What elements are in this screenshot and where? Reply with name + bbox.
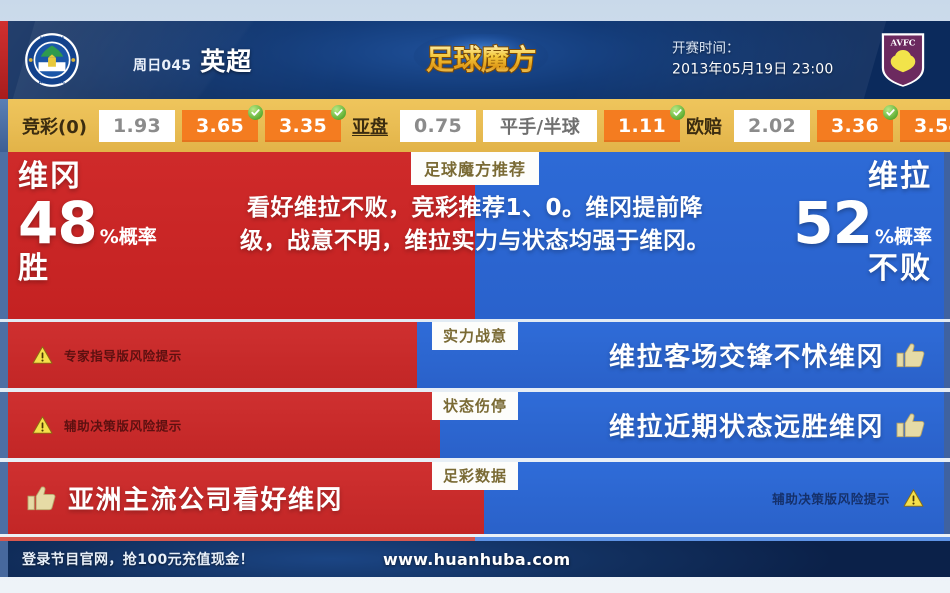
row-left-edge	[0, 462, 8, 534]
check-icon	[248, 105, 263, 120]
thumbs-up-icon	[895, 342, 926, 369]
match-number: 周日045	[133, 55, 191, 75]
insight-statement-betting-data: 亚洲主流公司看好维冈	[26, 480, 343, 517]
away-outcome-label: 不败	[793, 254, 932, 284]
thumbs-up-icon	[895, 412, 926, 439]
footer-left-edge	[0, 541, 8, 577]
svg-text:足球魔方: 足球魔方	[426, 43, 536, 76]
check-icon	[670, 105, 685, 120]
risk-notice-text: 专家指导版风险提示	[64, 346, 182, 365]
odds-chip-value: 1.11	[618, 115, 666, 137]
check-icon	[331, 105, 346, 120]
check-icon	[883, 105, 898, 120]
odds-chip[interactable]: 1.93	[99, 110, 175, 142]
odds-chip-value: 3.36	[831, 115, 879, 137]
odds-chip[interactable]: 3.35	[265, 110, 341, 142]
row-right-edge	[944, 322, 950, 388]
insight-row-form: 状态伤停 辅助决策版风险提示 维拉近期状态远胜维冈	[0, 392, 950, 458]
odds-chip[interactable]: 2.02	[734, 110, 810, 142]
insight-tab-form: 状态伤停	[432, 392, 518, 420]
odds-chip-value: 3.65	[196, 115, 244, 137]
odds-chip[interactable]: 1.11	[604, 110, 680, 142]
insight-text: 维拉近期状态远胜维冈	[609, 407, 884, 444]
odds-chip-value: 3.54	[914, 115, 950, 137]
warning-icon	[903, 489, 924, 508]
recommendation-tab: 足球魔方推荐	[411, 152, 539, 185]
odds-left-edge	[0, 99, 8, 152]
league-name: 英超	[200, 42, 252, 78]
kickoff-value: 2013年05月19日 23:00	[672, 60, 833, 82]
kickoff-label: 开赛时间：	[672, 39, 833, 60]
row-right-edge	[944, 392, 950, 458]
odds-chip[interactable]: 0.75	[400, 110, 476, 142]
row-right-edge	[944, 462, 950, 534]
insight-tab-betting-data: 足彩数据	[432, 462, 518, 490]
footer-bar: 登录节目官网，抢100元充值现金！ www.huanhuba.com	[0, 541, 950, 577]
risk-notice-assistant: 辅助决策版风险提示	[32, 416, 182, 435]
risk-notice-assistant-blue: 辅助决策版风险提示	[772, 489, 924, 508]
wigan-athletic-crest: WIGAN ATHLETIC	[24, 32, 80, 88]
odds-chip[interactable]: 3.36	[817, 110, 893, 142]
odds-group-label: 竞彩(0)	[22, 113, 87, 139]
svg-text:ATHLETIC: ATHLETIC	[39, 80, 66, 86]
insight-text: 维拉客场交锋不怵维冈	[609, 337, 884, 374]
odds-group-label: 欧赔	[686, 113, 722, 139]
odds-chip-value: 3.35	[279, 115, 327, 137]
svg-text:AVFC: AVFC	[890, 38, 916, 48]
recommendation-text: 看好维拉不败，竞彩推荐1、0。维冈提前降级，战意不明，维拉实力与状态均强于维冈。	[232, 192, 718, 257]
match-prediction-card: WIGAN ATHLETIC 周日045 英超	[0, 0, 950, 593]
away-probability-unit: %概率	[875, 228, 932, 247]
warning-icon	[32, 416, 53, 435]
risk-notice-text: 辅助决策版风险提示	[64, 416, 182, 435]
insight-tab-strength: 实力战意	[432, 322, 518, 350]
home-probability-unit: %概率	[100, 228, 157, 247]
aston-villa-crest: AVFC	[878, 31, 928, 89]
away-probability-value: 52	[793, 196, 872, 251]
away-probability: 维拉 52 %概率 不败	[793, 162, 932, 284]
insight-row-betting-data: 足彩数据 亚洲主流公司看好维冈 辅助决策版风险提示	[0, 462, 950, 534]
odds-chip[interactable]: 3.65	[182, 110, 258, 142]
row-left-edge	[0, 322, 8, 388]
match-title: 周日045 英超	[133, 42, 252, 78]
match-header: WIGAN ATHLETIC 周日045 英超	[0, 21, 950, 99]
brand-logo-football-cube: 足球魔方	[411, 34, 551, 86]
band-right-edge	[944, 152, 950, 319]
odds-group-asian-handicap: 亚盘 0.75 平手/半球 1.11	[352, 110, 680, 142]
footer-promo-text: 登录节目官网，抢100元充值现金！	[22, 549, 254, 569]
kickoff-time: 开赛时间： 2013年05月19日 23:00	[672, 39, 833, 82]
insight-statement-form: 维拉近期状态远胜维冈	[609, 407, 926, 444]
odds-group-label: 亚盘	[352, 113, 388, 139]
insight-row-strength: 实力战意 专家指导版风险提示 维拉客场交锋不怵维冈	[0, 322, 950, 388]
odds-chip[interactable]: 3.54	[900, 110, 950, 142]
row-left-edge	[0, 392, 8, 458]
header-accent-bar	[0, 21, 8, 99]
odds-chip-handicap[interactable]: 平手/半球	[483, 110, 597, 142]
home-probability-value: 48	[18, 196, 97, 251]
thumbs-up-icon	[26, 485, 57, 512]
home-outcome-label: 胜	[18, 254, 157, 284]
odds-bar: 竞彩(0) 1.93 3.65 3.35 亚盘 0.75 平手/半球 1.11	[0, 99, 950, 152]
probability-band: 维冈 48 %概率 胜 维拉 52 %概率 不败 足球魔方推荐 看好维拉不败，竞…	[0, 152, 950, 319]
odds-group-jingcai: 竞彩(0) 1.93 3.65 3.35	[22, 110, 341, 142]
insight-text: 亚洲主流公司看好维冈	[68, 480, 343, 517]
band-left-edge	[0, 152, 8, 319]
risk-notice-expert: 专家指导版风险提示	[32, 346, 182, 365]
svg-text:WIGAN: WIGAN	[40, 36, 64, 43]
home-team-name: 维冈	[18, 162, 157, 192]
odds-group-european: 欧赔 2.02 3.36 3.54	[686, 110, 950, 142]
warning-icon	[32, 346, 53, 365]
away-team-name: 维拉	[793, 162, 932, 192]
insight-statement-strength: 维拉客场交锋不怵维冈	[609, 337, 926, 374]
home-probability: 维冈 48 %概率 胜	[18, 162, 157, 284]
footer-website-link[interactable]: www.huanhuba.com	[383, 550, 570, 569]
risk-notice-text: 辅助决策版风险提示	[772, 489, 890, 508]
